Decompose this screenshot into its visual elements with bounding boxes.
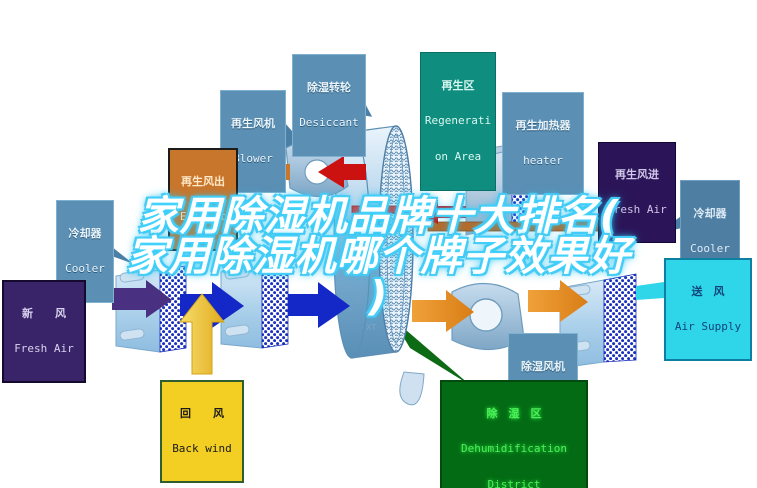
cooler-coil-1 [116,266,186,352]
label-regen-exhaust-cn: 再生风出 [172,176,234,188]
label-air-supply-cn: 送 风 [668,286,748,298]
label-cooler-left-en: Cooler [59,263,111,275]
label-regen-fresh-air-cn: 再生风进 [601,169,673,181]
label-regeneration-area-en2: on Area [423,151,493,163]
label-regen-exhaust-en: Exhaust [172,211,234,223]
label-fresh-air-left-en: Fresh Air [6,343,82,355]
label-regeneration-area[interactable]: 再生区 Regenerati on Area [420,52,496,191]
desiccant-wheel: XT [334,126,424,405]
label-desiccant-rotor-cn: 除湿转轮 [295,82,363,94]
label-dehum-district[interactable]: 除 湿 区 Dehumidification District [440,380,588,488]
label-dehum-blower-cn: 除湿风机 [511,361,575,373]
label-regen-heater[interactable]: 再生加热器 heater [502,92,584,195]
label-regeneration-area-en1: Regenerati [423,115,493,127]
label-air-supply-en: Air Supply [668,321,748,333]
label-dehum-district-en2: District [444,479,584,488]
label-dehum-district-en1: Dehumidification [444,443,584,455]
label-fresh-air-left-cn: 新 风 [6,308,82,320]
back-wind-arrow [180,294,224,374]
label-regeneration-area-cn: 再生区 [423,80,493,92]
label-regen-fresh-air-en: Fresh Air [601,204,673,216]
regen-into-rotor-arrow [318,156,366,188]
drip-tray [428,222,606,231]
label-back-wind-en: Back wind [164,443,240,455]
label-air-supply[interactable]: 送 风 Air Supply [664,258,752,361]
label-fresh-air-left[interactable]: 新 风 Fresh Air [2,280,86,383]
process-arrow-1 [180,282,244,328]
label-cooler-right-cn: 冷却器 [683,208,737,220]
label-cooler-right-en: Cooler [683,243,737,255]
label-cooler-left-cn: 冷却器 [59,228,111,240]
label-back-wind[interactable]: 回 风 Back wind [160,380,244,483]
label-regen-heater-cn: 再生加热器 [505,120,581,132]
label-regen-fresh-air[interactable]: 再生风进 Fresh Air [598,142,676,243]
label-regen-heater-en: heater [505,155,581,167]
cooler-coil-2 [221,263,288,348]
svg-text:XT: XT [366,323,376,332]
label-regen-exhaust[interactable]: 再生风出 Exhaust [168,148,238,251]
label-back-wind-cn: 回 风 [164,408,240,420]
process-arrow-2 [288,282,350,328]
label-dehum-district-cn: 除 湿 区 [444,408,584,420]
label-regen-blower-cn: 再生风机 [223,118,283,130]
label-desiccant-rotor-en: Desiccant [295,117,363,129]
regen-hot-arrow [416,200,466,224]
diagram-canvas: XT [0,0,757,488]
label-desiccant-rotor[interactable]: 除湿转轮 Desiccant [292,54,366,157]
rotor-out-arrow [412,290,474,332]
fresh-air-in-arrow [112,280,172,318]
blower-out-arrow [528,280,588,322]
